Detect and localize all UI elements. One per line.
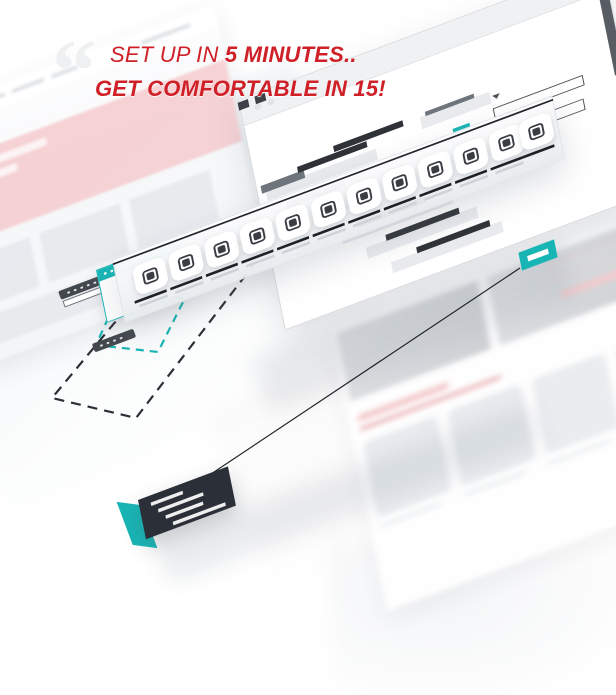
headline-line-2: GET COMFORTABLE IN 15! [95, 76, 386, 102]
mini-window-dot-icon [104, 272, 107, 276]
handle-dot-icon [93, 281, 96, 284]
quote-mark-icon: “ [52, 28, 94, 116]
promo-banner-canvas: “ SET UP IN 5 MINUTES.. GET COMFORTABLE … [0, 0, 616, 695]
handle-dot-icon [113, 339, 116, 342]
handle-dot-icon [67, 291, 70, 294]
handle-dot-icon [80, 286, 83, 289]
dropdown-caret-icon[interactable] [492, 93, 500, 100]
handle-dot-icon [106, 341, 109, 344]
page-right-product [532, 352, 616, 454]
handle-dot-icon [73, 288, 76, 291]
handle-dot-icon [119, 336, 122, 339]
handle-dot-icon [86, 283, 89, 286]
headline-line-1-bold: 5 MINUTES.. [225, 42, 357, 67]
handle-dot-icon [100, 344, 103, 347]
active-tab-slot [527, 248, 549, 261]
headline-line-1: SET UP IN 5 MINUTES.. [110, 42, 357, 68]
page-left-hero-title [0, 137, 47, 187]
headline-block: “ SET UP IN 5 MINUTES.. GET COMFORTABLE … [52, 32, 452, 110]
headline-line-1-thin: SET UP IN [110, 42, 225, 67]
page-left-hero-subtitle [0, 163, 18, 201]
content-heading-bar [333, 120, 404, 152]
